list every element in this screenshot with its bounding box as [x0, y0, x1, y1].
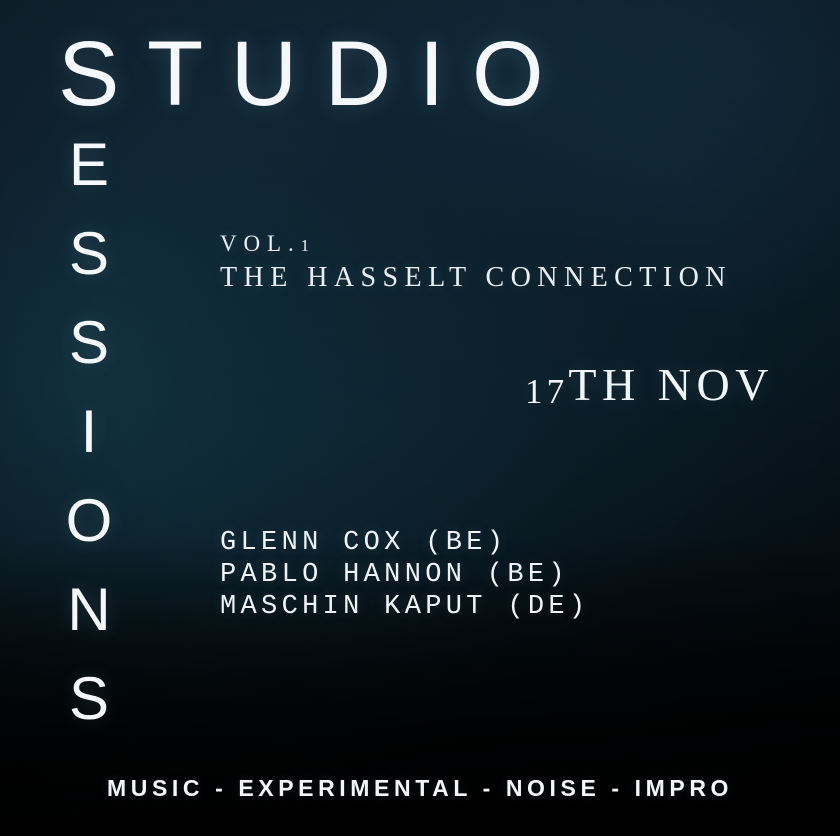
edition-name: THE HASSELT CONNECTION	[220, 259, 732, 297]
edition-block: VOL.1 THE HASSELT CONNECTION	[220, 228, 732, 297]
poster-content: STUDIO E S S I O N S VOL.1 THE HASSELT C…	[0, 0, 840, 836]
genre-tagline: MUSIC - EXPERIMENTAL - NOISE - IMPRO	[0, 775, 840, 802]
volume-number: 1	[301, 236, 313, 255]
volume-line: VOL.1	[220, 228, 732, 259]
poster-canvas: STUDIO E S S I O N S VOL.1 THE HASSELT C…	[0, 0, 840, 836]
sessions-letter: O	[58, 476, 120, 565]
event-date: 17TH NOV	[0, 358, 774, 411]
sessions-letter: S	[58, 209, 120, 298]
event-date-day: 17	[525, 372, 568, 411]
title-studio: STUDIO	[58, 28, 571, 120]
lineup-list: GLENN COX (BE) PABLO HANNON (BE) MASCHIN…	[220, 527, 589, 623]
sessions-letter: S	[58, 654, 120, 743]
lineup-item: MASCHIN KAPUT (DE)	[220, 591, 589, 623]
lineup-item: PABLO HANNON (BE)	[220, 559, 589, 591]
volume-label: VOL.	[220, 231, 301, 256]
sessions-letter: N	[58, 565, 120, 654]
title-sessions-vertical: E S S I O N S	[58, 120, 120, 743]
lineup-item: GLENN COX (BE)	[220, 527, 589, 559]
event-date-month: TH NOV	[568, 359, 774, 410]
sessions-letter: E	[58, 120, 120, 209]
